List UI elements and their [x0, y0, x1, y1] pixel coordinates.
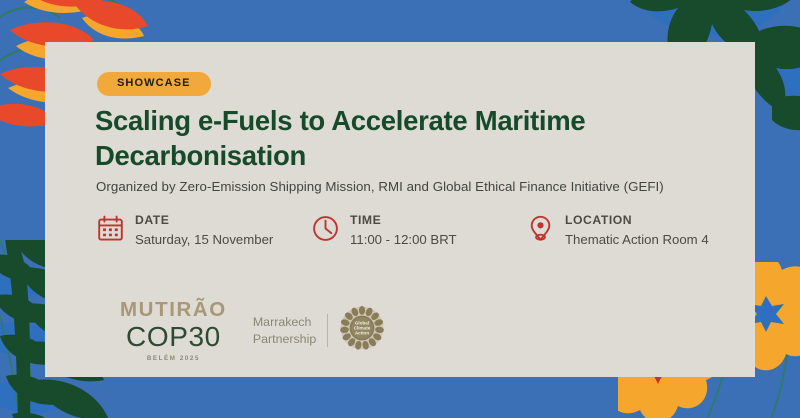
mutirao-wordmark: MUTIRÃO: [120, 300, 227, 321]
event-card: SHOWCASE Scaling e-Fuels to Accelerate M…: [45, 42, 755, 377]
event-meta-row: DATE Saturday, 15 November TIME 11:00 - …: [95, 210, 709, 248]
meta-value-time: 11:00 - 12:00 BRT: [350, 231, 457, 248]
meta-label-location: LOCATION: [565, 213, 632, 227]
meta-item-date: DATE Saturday, 15 November: [95, 210, 310, 248]
marrakech-partnership-logo: Marrakech Partnership: [253, 305, 385, 356]
meta-label-time: TIME: [350, 213, 381, 227]
showcase-badge: SHOWCASE: [97, 72, 211, 96]
cop30-wordmark: COP30: [120, 323, 227, 351]
logo-row: MUTIRÃO COP30 BELÉM 2025 Marrakech Partn…: [120, 300, 385, 362]
event-organizers: Organized by Zero-Emission Shipping Miss…: [96, 178, 746, 195]
global-climate-action-seal-icon: Global Climate Action: [339, 305, 385, 356]
meta-value-date: Saturday, 15 November: [135, 231, 273, 248]
calendar-icon: [95, 212, 125, 244]
seal-line-3: Action: [355, 331, 369, 336]
event-banner: SHOWCASE Scaling e-Fuels to Accelerate M…: [0, 0, 800, 418]
marrakech-line-1: Marrakech: [253, 314, 316, 330]
meta-item-time: TIME 11:00 - 12:00 BRT: [310, 210, 525, 248]
location-pin-icon: [525, 212, 555, 244]
page-title: Scaling e-Fuels to Accelerate Maritime D…: [95, 104, 715, 173]
meta-label-date: DATE: [135, 213, 169, 227]
belem-2025-text: BELÉM 2025: [120, 355, 227, 362]
clock-icon: [310, 212, 340, 244]
marrakech-line-2: Partnership: [253, 331, 316, 347]
meta-value-location: Thematic Action Room 4: [565, 231, 709, 248]
meta-item-location: LOCATION Thematic Action Room 4: [525, 210, 709, 248]
cop30-logo: MUTIRÃO COP30 BELÉM 2025: [120, 300, 227, 362]
